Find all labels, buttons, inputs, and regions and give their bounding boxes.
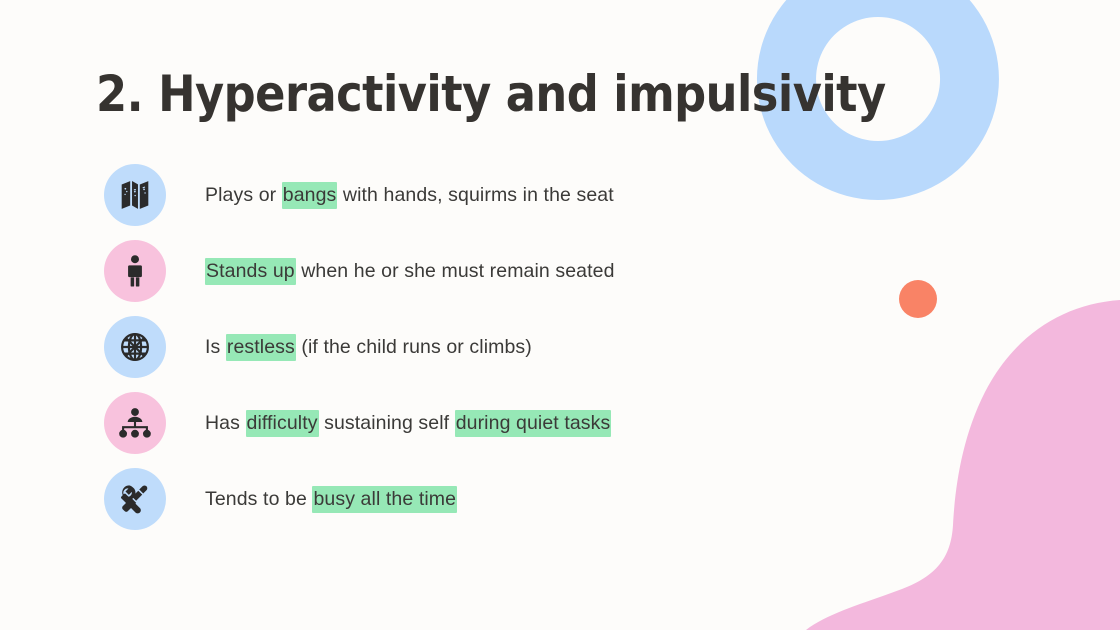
highlighted-text: during quiet tasks — [455, 410, 612, 437]
highlighted-text: bangs — [282, 182, 338, 209]
list-item: Tends to be busy all the time — [104, 468, 824, 530]
text-segment: Has — [205, 412, 246, 434]
highlighted-text: restless — [226, 334, 296, 361]
list-item-text: Tends to be busy all the time — [205, 486, 457, 512]
list-item: Stands up when he or she must remain sea… — [104, 240, 824, 302]
slide: 2. Hyperactivity and impulsivity — [0, 0, 1120, 630]
list-item-text: Has difficulty sustaining self during qu… — [205, 410, 611, 436]
list-item: Plays or bangs with hands, squirms in th… — [104, 164, 824, 226]
tools-icon — [104, 468, 166, 530]
text-segment: (if the child runs or climbs) — [296, 336, 532, 358]
text-segment: Is — [205, 336, 226, 358]
list-item-text: Plays or bangs with hands, squirms in th… — [205, 182, 614, 208]
list-item: Has difficulty sustaining self during qu… — [104, 392, 824, 454]
highlighted-text: difficulty — [246, 410, 319, 437]
highlighted-text: Stands up — [205, 258, 296, 285]
list-item: Is restless (if the child runs or climbs… — [104, 316, 824, 378]
text-segment: Tends to be — [205, 488, 312, 510]
globe-icon — [104, 316, 166, 378]
list-item-text: Stands up when he or she must remain sea… — [205, 258, 615, 284]
pink-blob-shape — [806, 300, 1120, 630]
map-icon — [104, 164, 166, 226]
text-segment: Plays or — [205, 184, 282, 206]
text-segment: sustaining self — [319, 412, 455, 434]
bullet-list: Plays or bangs with hands, squirms in th… — [104, 164, 824, 544]
person-standing-icon — [104, 240, 166, 302]
list-item-text: Is restless (if the child runs or climbs… — [205, 334, 532, 360]
text-segment: when he or she must remain seated — [296, 260, 615, 282]
hierarchy-icon — [104, 392, 166, 454]
page-title: 2. Hyperactivity and impulsivity — [96, 66, 886, 122]
highlighted-text: busy all the time — [312, 486, 457, 513]
text-segment: with hands, squirms in the seat — [337, 184, 613, 206]
coral-dot-icon — [899, 280, 937, 318]
